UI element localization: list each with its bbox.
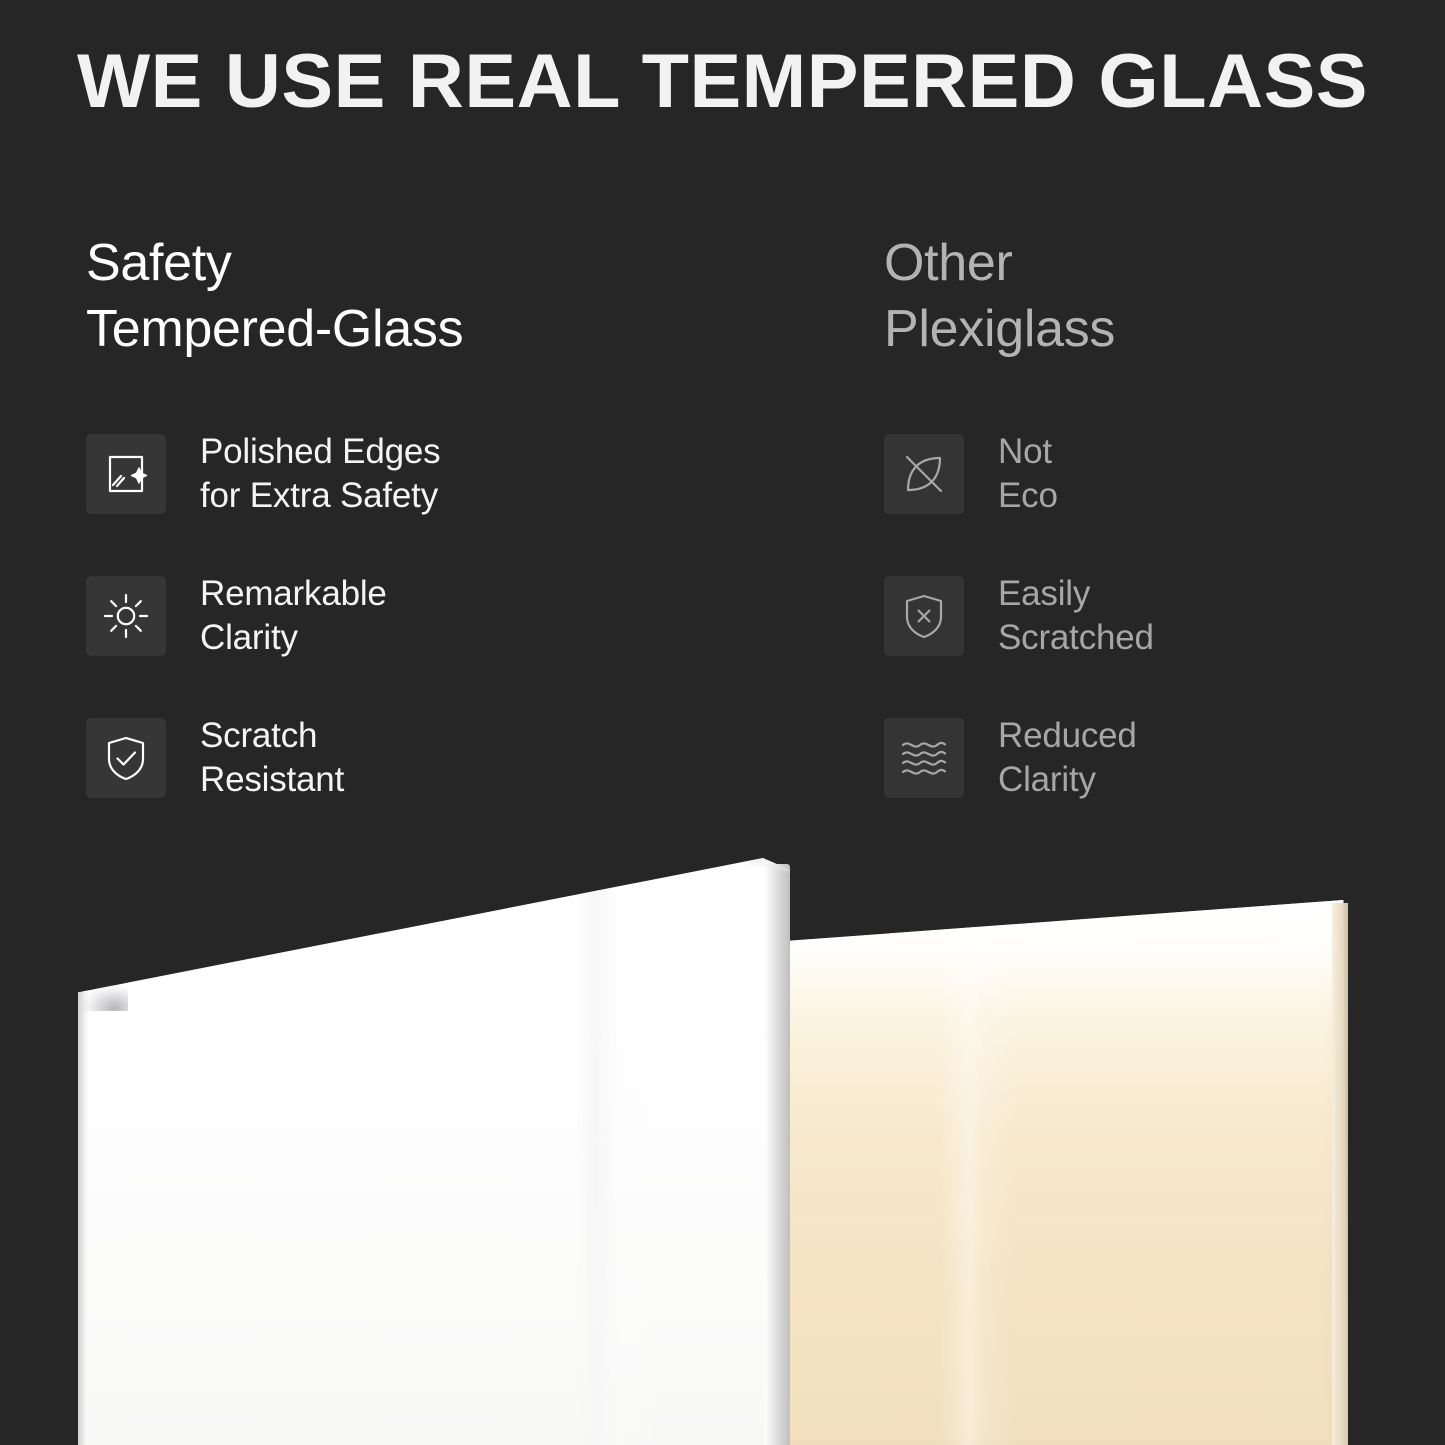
feature-row: Polished Edges for Extra Safety	[86, 422, 806, 526]
tempered-glass-polished-left-edge	[78, 992, 88, 1445]
product-photo	[0, 845, 1445, 1445]
feature-label: Easily Scratched	[998, 572, 1154, 661]
infographic-canvas: WE USE REAL TEMPERED GLASS Safety Temper…	[0, 0, 1445, 1445]
feature-row: Not Eco	[884, 422, 1404, 526]
page-title: WE USE REAL TEMPERED GLASS	[0, 38, 1445, 125]
tempered-glass-panel	[78, 858, 790, 1445]
feature-label: Not Eco	[998, 430, 1058, 519]
feature-label: Remarkable Clarity	[200, 572, 387, 661]
feature-row: Remarkable Clarity	[86, 564, 806, 668]
plexiglass-panel	[780, 900, 1348, 1445]
leaf-crossed-out-icon	[884, 434, 964, 514]
feature-list-left: Polished Edges for Extra Safety Remarkab…	[86, 422, 806, 810]
column-title-right: Other Plexiglass	[884, 230, 1404, 362]
feature-label: Scratch Resistant	[200, 714, 344, 803]
shield-x-icon	[884, 576, 964, 656]
polished-glass-pane-icon	[86, 434, 166, 514]
sun-brightness-icon	[86, 576, 166, 656]
feature-row: Scratch Resistant	[86, 706, 806, 810]
tempered-glass-polished-right-edge	[765, 864, 790, 1445]
wavy-lines-icon	[884, 718, 964, 798]
plexiglass-right-edge	[1332, 903, 1348, 1445]
feature-row: Easily Scratched	[884, 564, 1404, 668]
comparison-column-plexiglass: Other Plexiglass Not Eco	[884, 230, 1404, 810]
feature-label: Reduced Clarity	[998, 714, 1137, 803]
feature-label: Polished Edges for Extra Safety	[200, 430, 440, 519]
feature-row: Reduced Clarity	[884, 706, 1404, 810]
comparison-column-tempered-glass: Safety Tempered-Glass Polished Edges for…	[86, 230, 806, 810]
shield-check-icon	[86, 718, 166, 798]
column-title-left: Safety Tempered-Glass	[86, 230, 806, 362]
feature-list-right: Not Eco Easily Scratched	[884, 422, 1404, 810]
